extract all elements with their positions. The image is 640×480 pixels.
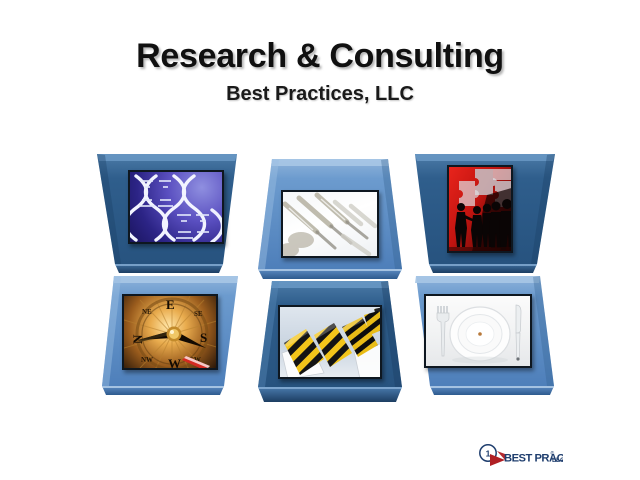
page-subtitle: Best Practices, LLC	[0, 83, 640, 105]
slide-canvas: Research & Consulting Best Practices, LL…	[0, 0, 640, 480]
logo-suffix: LLC	[552, 457, 563, 464]
svg-text:E: E	[166, 297, 175, 312]
panel-hazard-image	[278, 305, 382, 379]
panel-syringes-image	[281, 190, 379, 258]
panel-compass[interactable]: E N S W NE SE SW NW	[100, 274, 256, 394]
business-team-silhouettes-puzzle-icon	[449, 167, 511, 251]
svg-text:S: S	[200, 330, 207, 345]
panel-team-puzzle[interactable]	[403, 152, 559, 272]
dinner-place-setting-icon	[426, 296, 530, 366]
panel-dna[interactable]	[95, 152, 251, 272]
svg-text:NW: NW	[141, 356, 153, 364]
logo-registered-mark: ®	[551, 450, 555, 457]
dna-double-helix-icon	[130, 172, 222, 242]
yellow-black-hazard-blocks-icon	[280, 307, 380, 377]
panel-syringes[interactable]	[250, 157, 406, 277]
page-title: Research & Consulting	[0, 38, 640, 74]
svg-text:SE: SE	[194, 310, 203, 318]
title-block: Research & Consulting Best Practices, LL…	[0, 38, 640, 105]
badge-number: 1	[486, 449, 491, 459]
best-practices-logo-mark: 1 BEST PRACTICES ® LLC	[477, 441, 563, 471]
panel-place-setting-image	[424, 294, 532, 368]
svg-text:W: W	[168, 356, 181, 370]
panel-grid: E N S W NE SE SW NW	[95, 152, 555, 397]
svg-text:NE: NE	[142, 308, 152, 316]
panel-team-puzzle-image	[447, 165, 513, 253]
syringes-icon	[283, 192, 377, 256]
golden-compass-icon: E N S W NE SE SW NW	[124, 296, 216, 368]
panel-dna-image	[128, 170, 224, 244]
panel-compass-image: E N S W NE SE SW NW	[122, 294, 218, 370]
panel-place-setting[interactable]	[400, 274, 556, 394]
panel-hazard[interactable]	[250, 279, 406, 399]
company-logo[interactable]: 1 BEST PRACTICES ® LLC	[477, 441, 563, 471]
